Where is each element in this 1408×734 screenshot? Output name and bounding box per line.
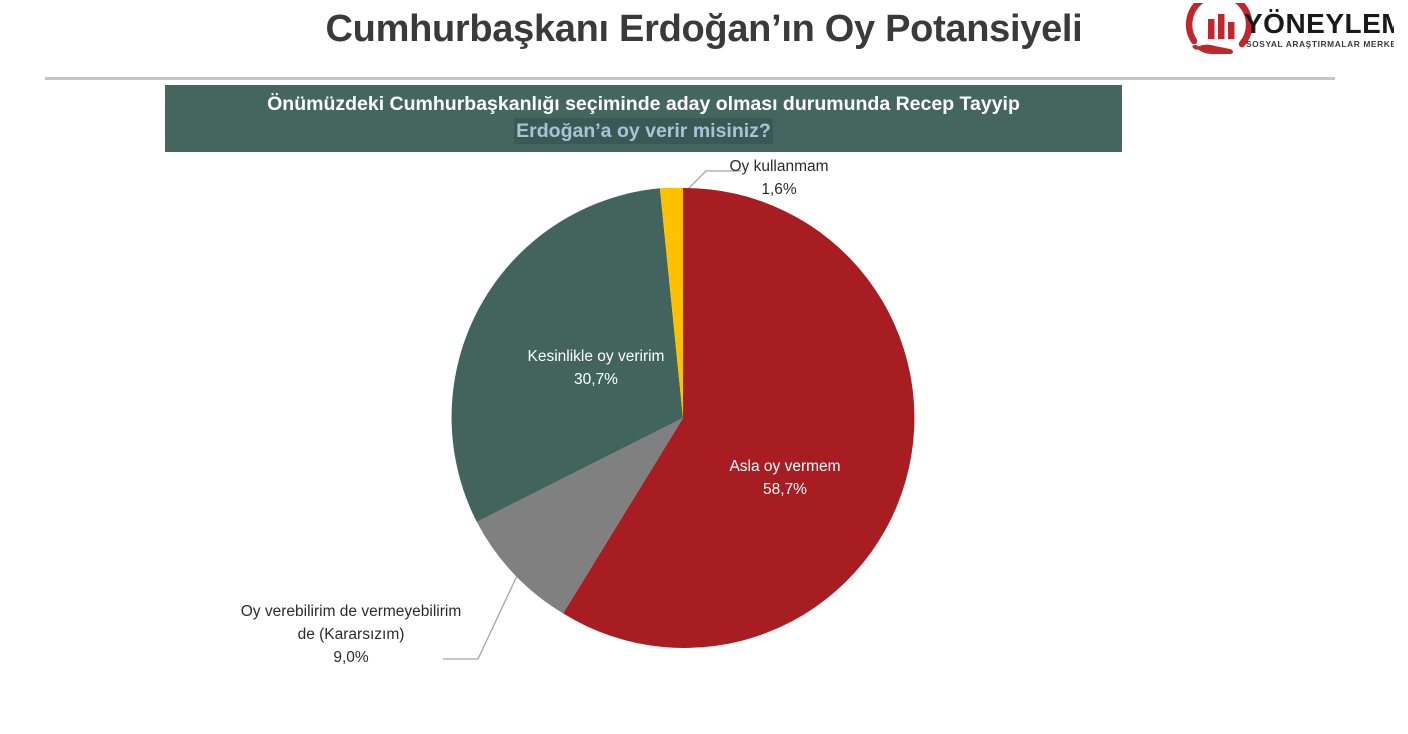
slice-label-oy-kullanmam-name: Oy kullanmam xyxy=(729,158,828,175)
question-line-2: Erdoğan’a oy verir misiniz? xyxy=(514,118,773,144)
slice-label-kesinlikle-oy-veririm-value: 30,7% xyxy=(574,371,618,388)
slice-label-asla-oy-vermem-value: 58,7% xyxy=(763,481,807,498)
hand-holding-bars-icon xyxy=(1189,3,1249,54)
logo-subtitle: SOSYAL ARAŞTIRMALAR MERKEZİ xyxy=(1246,39,1394,49)
slice-label-kararsizim-name-line2: de (Kararsızım) xyxy=(298,626,405,643)
slice-label-kararsizim-name-line1: Oy verebilirim de vermeyebilirim xyxy=(241,603,462,620)
slice-label-asla-oy-vermem-name: Asla oy vermem xyxy=(729,458,840,475)
slice-label-kesinlikle-oy-veririm-name: Kesinlikle oy veririm xyxy=(528,348,665,365)
slice-label-oy-kullanmam-value: 1,6% xyxy=(761,181,797,198)
question-banner: Önümüzdeki Cumhurbaşkanlığı seçiminde ad… xyxy=(165,85,1122,152)
question-line-1: Önümüzdeki Cumhurbaşkanlığı seçiminde ad… xyxy=(267,91,1020,117)
slice-label-kararsizim-value: 9,0% xyxy=(333,649,369,666)
logo-wordmark: YÖNEYLEM xyxy=(1244,8,1394,39)
company-logo: YÖNEYLEM SOSYAL ARAŞTIRMALAR MERKEZİ xyxy=(1182,3,1394,57)
pie-chart: Asla oy vermem 58,7% Kesinlikle oy verir… xyxy=(0,150,1408,690)
header-divider xyxy=(45,77,1335,80)
